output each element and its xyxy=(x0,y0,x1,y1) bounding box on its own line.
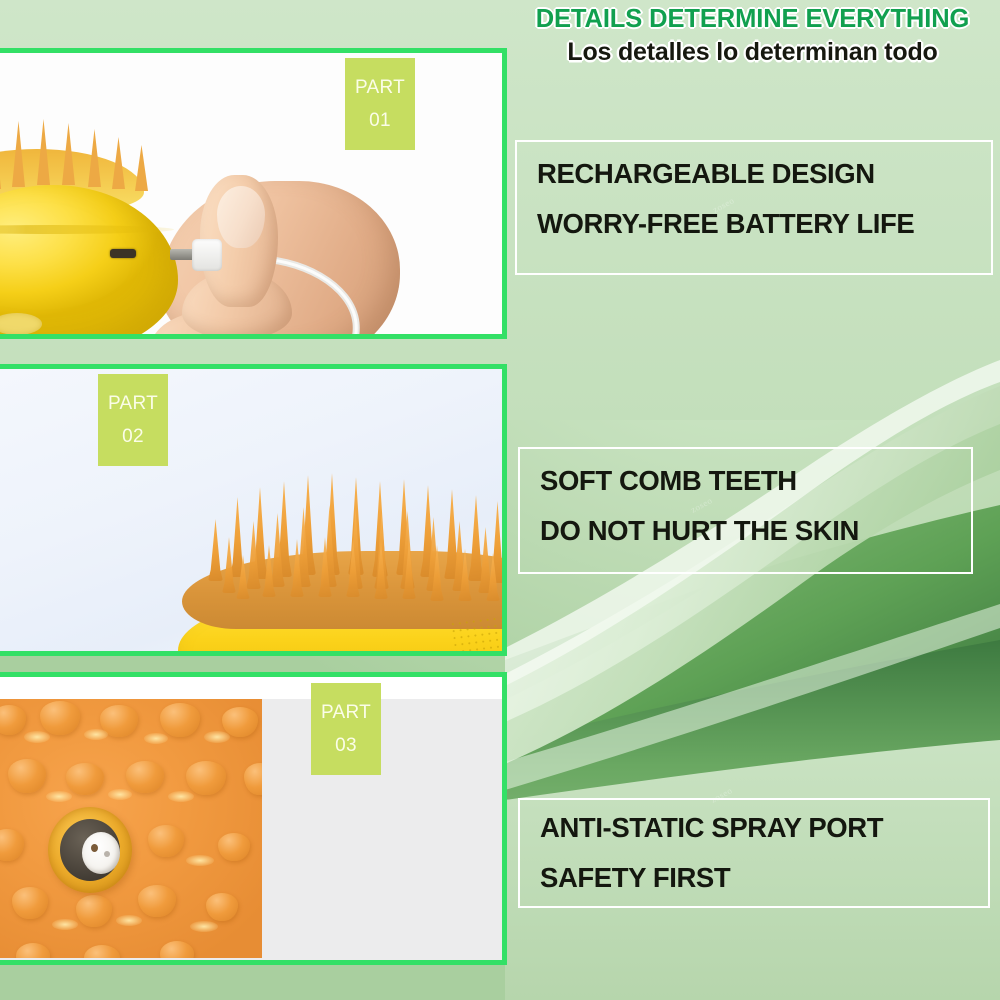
product-image-rechargeable-design xyxy=(0,53,502,334)
part-badge-02: PART 02 xyxy=(98,374,168,466)
caption-line: SAFETY FIRST xyxy=(540,864,988,892)
spray-port-macro xyxy=(0,699,262,958)
surface-highlight xyxy=(52,919,78,930)
charging-port xyxy=(110,249,136,258)
caption-line: RECHARGEABLE DESIGN xyxy=(537,160,991,188)
silicone-nub xyxy=(66,763,104,795)
feature-caption-3: ANTI-STATIC SPRAY PORT SAFETY FIRST xyxy=(518,798,990,908)
photo-top-strip xyxy=(0,677,502,699)
part-badge-label: PART xyxy=(108,394,158,413)
spray-port-ring xyxy=(48,807,132,893)
silicone-nub xyxy=(206,893,238,921)
silicone-nub xyxy=(76,895,112,927)
silicone-nub xyxy=(148,825,184,857)
silicone-nub xyxy=(0,829,24,861)
silicone-nub xyxy=(186,761,226,795)
feature-caption-1: RECHARGEABLE DESIGN WORRY-FREE BATTERY L… xyxy=(515,140,993,275)
header: DETAILS DETERMINE EVERYTHING Los detalle… xyxy=(505,0,1000,67)
caption-line: WORRY-FREE BATTERY LIFE xyxy=(537,210,991,238)
feature-photo-3 xyxy=(0,672,507,965)
feature-caption-2: SOFT COMB TEETH DO NOT HURT THE SKIN xyxy=(518,447,973,574)
surface-highlight xyxy=(190,921,218,932)
surface-highlight xyxy=(84,729,108,740)
caption-line: ANTI-STATIC SPRAY PORT xyxy=(540,814,988,842)
product-image-anti-static-spray-port xyxy=(0,677,502,960)
part-badge-number: 03 xyxy=(335,736,357,755)
silicone-nub xyxy=(0,705,26,735)
silicone-nub xyxy=(218,833,250,861)
surface-highlight xyxy=(168,791,194,802)
page-subtitle: Los detalles lo determinan todo xyxy=(505,39,1000,67)
spray-nozzle-hole xyxy=(104,851,110,857)
silicone-nub xyxy=(8,759,46,793)
silicone-nub xyxy=(160,703,200,737)
part-badge-number: 01 xyxy=(369,111,391,130)
feature-photo-2 xyxy=(0,364,507,656)
surface-highlight xyxy=(204,731,230,743)
surface-highlight xyxy=(186,855,214,866)
surface-highlight xyxy=(24,731,50,743)
silicone-nub xyxy=(12,887,48,919)
surface-highlight xyxy=(144,733,168,744)
feature-photo-1 xyxy=(0,48,507,339)
part-badge-03: PART 03 xyxy=(311,683,381,775)
part-badge-01: PART 01 xyxy=(345,58,415,150)
surface-highlight xyxy=(108,789,132,800)
silicone-nub xyxy=(138,885,176,917)
thumbnail xyxy=(217,186,265,248)
silicone-nub xyxy=(40,701,80,735)
part-badge-number: 02 xyxy=(122,427,144,446)
silicone-nub xyxy=(126,761,164,793)
caption-line: DO NOT HURT THE SKIN xyxy=(540,517,971,545)
silicone-nub xyxy=(16,943,50,958)
brush-power-button xyxy=(0,313,42,334)
spray-nozzle xyxy=(82,832,120,874)
spray-port-cavity xyxy=(60,819,120,881)
surface-highlight xyxy=(46,791,72,802)
part-badge-label: PART xyxy=(355,78,405,97)
silicone-nub xyxy=(84,945,120,958)
caption-line: SOFT COMB TEETH xyxy=(540,467,971,495)
silicone-nub xyxy=(244,763,262,795)
surface-highlight xyxy=(116,915,142,926)
page-title: DETAILS DETERMINE EVERYTHING xyxy=(505,0,1000,33)
silicone-nub xyxy=(160,941,194,958)
spray-nozzle-hole xyxy=(91,844,98,852)
product-image-soft-comb-teeth xyxy=(0,369,502,651)
part-badge-label: PART xyxy=(321,703,371,722)
usb-connector-shell xyxy=(192,239,222,271)
